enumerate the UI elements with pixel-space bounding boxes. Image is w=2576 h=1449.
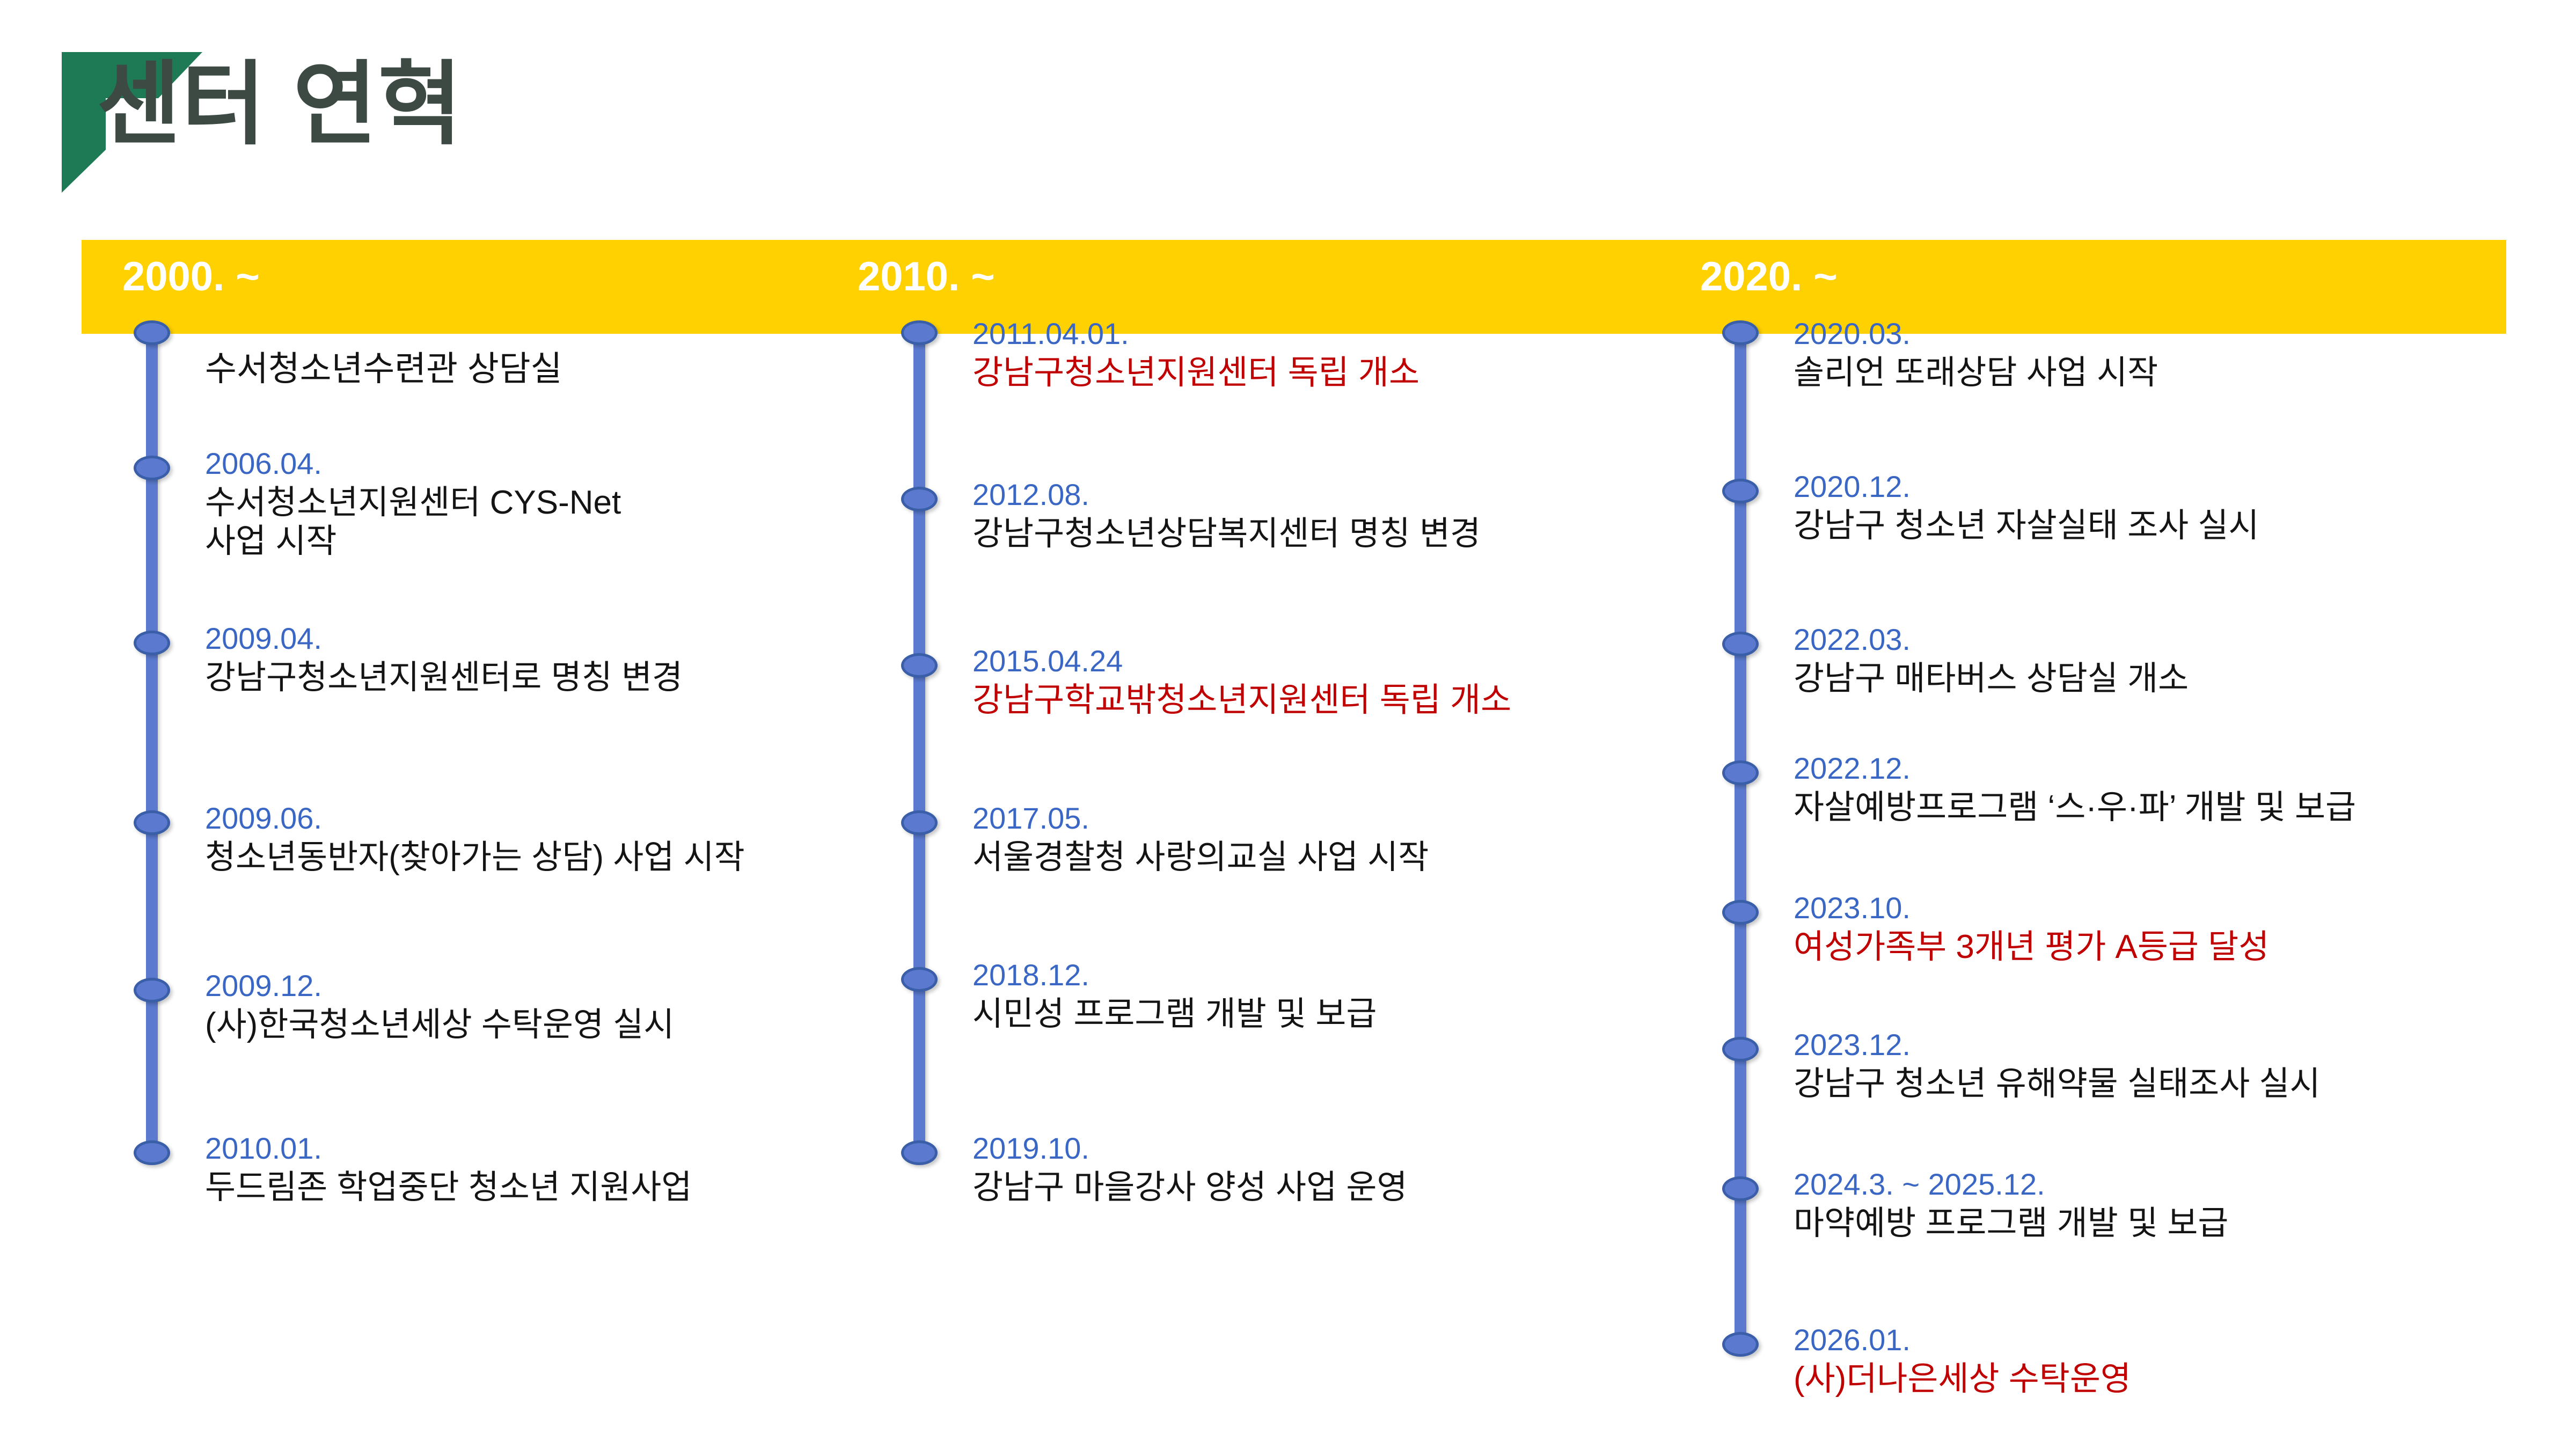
timeline-entry: 2010.01.두드림존 학업중단 청소년 지원사업 xyxy=(205,1131,692,1207)
entry-description: 사업 시작 xyxy=(205,522,621,561)
timeline-entry: 2006.04.수서청소년지원센터 CYS-Net사업 시작 xyxy=(205,447,621,561)
entry-description: (사)더나은세상 수탁운영 xyxy=(1794,1360,2131,1399)
timeline-entry: 수서청소년수련관 상담실 xyxy=(205,349,562,389)
entry-date: 2015.04.24 xyxy=(972,644,1511,679)
timeline-entry: 2012.08.강남구청소년상담복지센터 명칭 변경 xyxy=(972,478,1481,553)
era-label-2000: 2000. ~ xyxy=(122,257,260,297)
entry-description: 시민성 프로그램 개발 및 보급 xyxy=(972,995,1377,1034)
timeline-dot[interactable] xyxy=(1722,1332,1759,1357)
entry-date: 2023.12. xyxy=(1794,1028,2321,1063)
entry-date: 2017.05. xyxy=(972,801,1429,836)
entry-date: 2022.03. xyxy=(1794,623,2189,657)
entry-description: 강남구청소년지원센터 독립 개소 xyxy=(972,354,1419,392)
entry-description: 강남구청소년지원센터로 명칭 변경 xyxy=(205,658,683,697)
timeline-dot[interactable] xyxy=(134,978,170,1002)
timeline-dot[interactable] xyxy=(1722,760,1759,785)
timeline-dot[interactable] xyxy=(901,487,938,511)
timeline-dot[interactable] xyxy=(1722,900,1759,925)
timeline-entry: 2023.12.강남구 청소년 유해약물 실태조사 실시 xyxy=(1794,1028,2321,1103)
entry-description: 자살예방프로그램 ‘스·우·파’ 개발 및 보급 xyxy=(1794,788,2356,827)
timeline-dot[interactable] xyxy=(901,653,938,678)
entry-date: 2006.04. xyxy=(205,447,621,481)
entry-description: 수서청소년수련관 상담실 xyxy=(205,349,562,389)
entry-description: 수서청소년지원센터 CYS-Net xyxy=(205,484,621,522)
entry-description: (사)한국청소년세상 수탁운영 실시 xyxy=(205,1006,674,1044)
entry-description: 강남구 마을강사 양성 사업 운영 xyxy=(972,1168,1407,1207)
timeline-entry: 2015.04.24강남구학교밖청소년지원센터 독립 개소 xyxy=(972,644,1511,720)
timeline-dot[interactable] xyxy=(134,810,170,835)
entry-date: 2022.12. xyxy=(1794,751,2356,786)
timeline-dot[interactable] xyxy=(134,1140,170,1165)
entry-date: 2019.10. xyxy=(972,1131,1407,1166)
timeline-dot[interactable] xyxy=(1722,1176,1759,1201)
timeline-entry: 2020.12.강남구 청소년 자살실태 조사 실시 xyxy=(1794,470,2259,545)
timeline-dot[interactable] xyxy=(1722,632,1759,656)
timeline-dot[interactable] xyxy=(901,320,938,345)
entry-description: 마약예방 프로그램 개발 및 보급 xyxy=(1794,1204,2228,1243)
timeline-entry: 2009.12.(사)한국청소년세상 수탁운영 실시 xyxy=(205,969,674,1044)
entry-description: 청소년동반자(찾아가는 상담) 사업 시작 xyxy=(205,838,745,877)
entry-description: 강남구학교밖청소년지원센터 독립 개소 xyxy=(972,681,1511,720)
entry-date: 2012.08. xyxy=(972,478,1481,513)
timeline-dot[interactable] xyxy=(134,320,170,345)
timeline-dot[interactable] xyxy=(1722,1037,1759,1062)
entry-date: 2024.3. ~ 2025.12. xyxy=(1794,1167,2228,1202)
timeline-entry: 2023.10.여성가족부 3개년 평가 A등급 달성 xyxy=(1794,891,2269,967)
entry-date: 2023.10. xyxy=(1794,891,2269,926)
timeline-dot[interactable] xyxy=(134,456,170,480)
timeline-rail xyxy=(913,333,925,1153)
entry-date: 2010.01. xyxy=(205,1131,692,1166)
entry-date: 2009.12. xyxy=(205,969,674,1004)
timeline-dot[interactable] xyxy=(901,967,938,992)
timeline-entry: 2009.06.청소년동반자(찾아가는 상담) 사업 시작 xyxy=(205,801,745,877)
timeline-entry: 2011.04.01.강남구청소년지원센터 독립 개소 xyxy=(972,317,1419,392)
entry-date: 2009.04. xyxy=(205,621,683,656)
timeline-entry: 2020.03.솔리언 또래상담 사업 시작 xyxy=(1794,317,2158,392)
timeline-entry: 2019.10.강남구 마을강사 양성 사업 운영 xyxy=(972,1131,1407,1207)
entry-description: 강남구 매타버스 상담실 개소 xyxy=(1794,660,2189,698)
entry-description: 여성가족부 3개년 평가 A등급 달성 xyxy=(1794,928,2269,967)
entry-description: 강남구 청소년 자살실태 조사 실시 xyxy=(1794,507,2259,545)
timeline-entry: 2022.12.자살예방프로그램 ‘스·우·파’ 개발 및 보급 xyxy=(1794,751,2356,827)
entry-date: 2020.12. xyxy=(1794,470,2259,504)
timeline-dot[interactable] xyxy=(1722,479,1759,503)
timeline-dot[interactable] xyxy=(901,810,938,835)
timeline-entry: 2009.04.강남구청소년지원센터로 명칭 변경 xyxy=(205,621,683,697)
page-title: 센터 연혁 xyxy=(97,59,463,150)
timeline-entry: 2026.01.(사)더나은세상 수탁운영 xyxy=(1794,1323,2131,1399)
timeline-dot[interactable] xyxy=(134,631,170,655)
timeline-dot[interactable] xyxy=(1722,320,1759,345)
entry-description: 서울경찰청 사랑의교실 사업 시작 xyxy=(972,838,1429,877)
entry-date: 2011.04.01. xyxy=(972,317,1419,352)
era-label-2010: 2010. ~ xyxy=(858,257,995,297)
timeline-dot[interactable] xyxy=(901,1140,938,1165)
timeline-entry: 2017.05.서울경찰청 사랑의교실 사업 시작 xyxy=(972,801,1429,877)
entry-date: 2018.12. xyxy=(972,958,1377,993)
entry-date: 2009.06. xyxy=(205,801,745,836)
entry-date: 2026.01. xyxy=(1794,1323,2131,1358)
timeline-entry: 2024.3. ~ 2025.12.마약예방 프로그램 개발 및 보급 xyxy=(1794,1167,2228,1243)
entry-date: 2020.03. xyxy=(1794,317,2158,352)
entry-description: 솔리언 또래상담 사업 시작 xyxy=(1794,354,2158,392)
era-label-2020: 2020. ~ xyxy=(1700,257,1838,297)
timeline-entry: 2018.12.시민성 프로그램 개발 및 보급 xyxy=(972,958,1377,1034)
entry-description: 두드림존 학업중단 청소년 지원사업 xyxy=(205,1168,692,1207)
timeline-entry: 2022.03.강남구 매타버스 상담실 개소 xyxy=(1794,623,2189,698)
entry-description: 강남구 청소년 유해약물 실태조사 실시 xyxy=(1794,1065,2321,1103)
entry-description: 강남구청소년상담복지센터 명칭 변경 xyxy=(972,515,1481,553)
